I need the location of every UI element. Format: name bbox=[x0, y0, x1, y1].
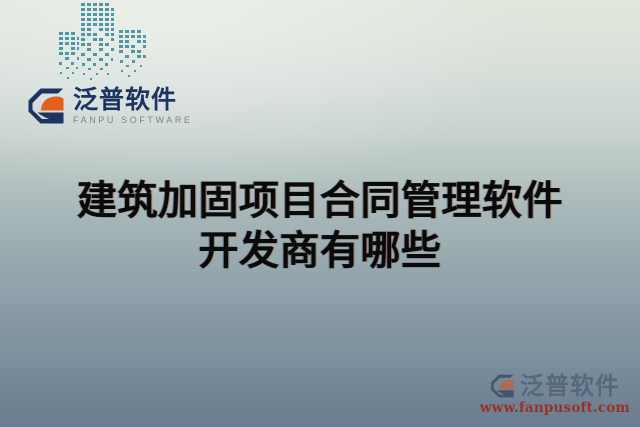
watermark-url: www.fanpusoft.com bbox=[480, 402, 630, 416]
pixel-skyline-icon bbox=[54, 0, 154, 82]
watermark: 泛普软件 www.fanpusoft.com bbox=[480, 373, 630, 416]
fanpu-hexagon-logo-icon bbox=[27, 86, 67, 126]
watermark-logo-row: 泛普软件 bbox=[490, 373, 620, 399]
page-title: 建筑加固项目合同管理软件 开发商有哪些 bbox=[0, 176, 640, 276]
poster-canvas: 泛普软件 FANPU SOFTWARE 建筑加固项目合同管理软件 开发商有哪些 … bbox=[0, 0, 640, 427]
brand-logo: 泛普软件 FANPU SOFTWARE bbox=[27, 86, 193, 126]
brand-text-block: 泛普软件 FANPU SOFTWARE bbox=[73, 87, 193, 125]
page-title-line-2: 开发商有哪些 bbox=[0, 226, 640, 276]
fanpu-hexagon-logo-icon bbox=[490, 373, 516, 399]
brand-name-cn: 泛普软件 bbox=[73, 87, 193, 113]
page-title-line-1: 建筑加固项目合同管理软件 bbox=[0, 176, 640, 226]
brand-name-en: FANPU SOFTWARE bbox=[73, 116, 193, 125]
watermark-brand-name: 泛普软件 bbox=[520, 374, 620, 398]
